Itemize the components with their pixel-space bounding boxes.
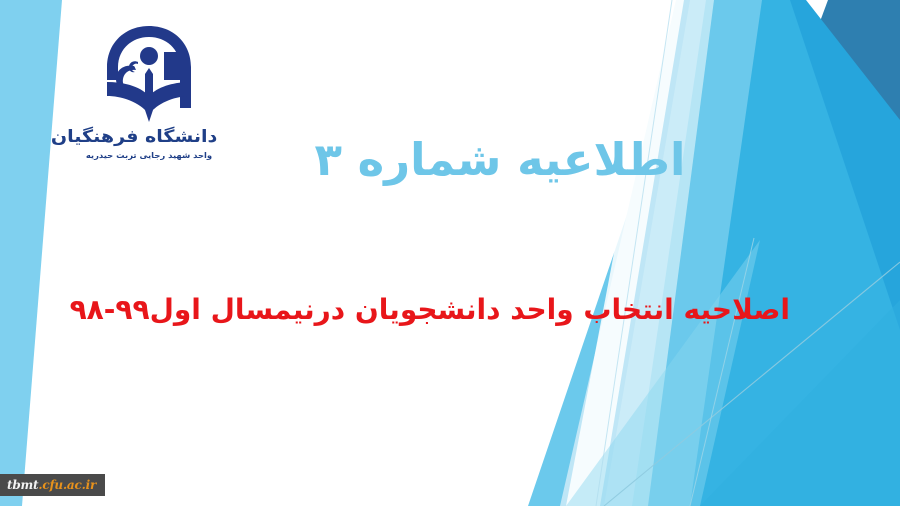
right-band-sky-blue — [528, 0, 762, 506]
footer-url-domain: .cfu.ac.ir — [38, 478, 96, 492]
hairline-diagonal-upper — [596, 0, 672, 506]
right-band-deep-blue — [686, 0, 900, 506]
logo-branch-name: واحد شهید رجایی تربت حیدریه — [85, 151, 213, 160]
right-band-pale-highlight — [604, 0, 714, 506]
slide-subtitle: اصلاحیه انتخاب واحد دانشجویان درنیمسال ا… — [110, 292, 790, 328]
slide-title: اطلاعیه شماره ۳ — [300, 132, 700, 188]
hairline-diagonal-short — [690, 238, 754, 506]
right-band-cyan-blue — [560, 0, 900, 506]
right-lower-cyan-facet — [640, 300, 900, 506]
right-band-white-sliver — [566, 0, 684, 506]
right-band-pale-blue — [560, 0, 706, 506]
footer-url-badge[interactable]: tbmt.cfu.ac.ir — [0, 474, 105, 496]
right-band-steel-blue — [640, 0, 900, 506]
footer-url-prefix: tbmt — [7, 478, 38, 492]
right-lower-light-facet — [566, 240, 760, 506]
right-band-medium-blue — [612, 0, 900, 506]
logo-university-name: دانشگاه فرهنگیان — [81, 127, 218, 147]
university-logo: دانشگاه فرهنگیان واحد شهید رجایی تربت حی… — [88, 22, 210, 190]
presentation-slide: دانشگاه فرهنگیان واحد شهید رجایی تربت حی… — [0, 0, 900, 506]
left-blue-wedge — [0, 0, 62, 506]
university-emblem-icon — [94, 22, 204, 126]
